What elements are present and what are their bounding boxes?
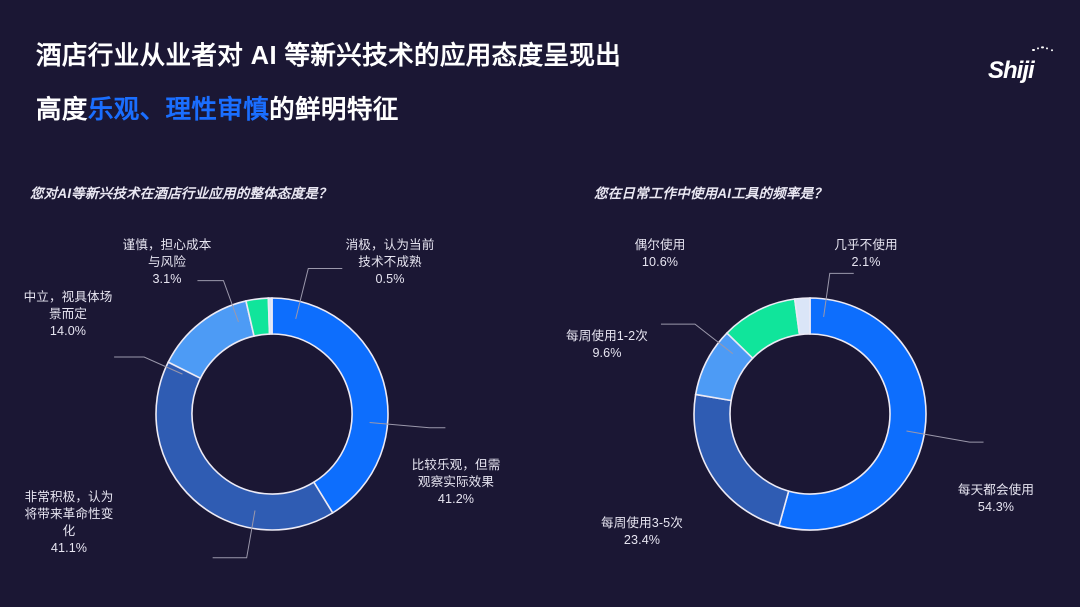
- title-line-2: 高度乐观、理性审慎的鲜明特征: [36, 98, 916, 124]
- callout-frequency-weekly-1-2: 每周使用1-2次 9.6%: [542, 328, 672, 362]
- donut-slice[interactable]: [268, 298, 272, 334]
- callout-frequency-weekly-3-5: 每周使用3-5次 23.4%: [574, 515, 710, 549]
- shiji-logo: Shiji: [988, 48, 1054, 82]
- chart-panel-attitude: 您对AI等新兴技术在酒店行业应用的整体态度是？ 谨慎，担心成本 与风险 3.1%…: [0, 182, 540, 594]
- title-prefix: 高度: [36, 96, 88, 124]
- chart-panel-frequency: 您在日常工作中使用AI工具的频率是？ 偶尔使用 10.6% 几乎不使用 2.1%…: [540, 182, 1080, 594]
- page-title: 酒店行业从业者对 AI 等新兴技术的应用态度呈现出 高度乐观、理性审慎的鲜明特征: [36, 44, 916, 123]
- logo-dots-icon: [1032, 49, 1053, 51]
- slide-root: 酒店行业从业者对 AI 等新兴技术的应用态度呈现出 高度乐观、理性审慎的鲜明特征…: [0, 0, 1080, 607]
- donut-slice[interactable]: [694, 394, 789, 525]
- donut-slice[interactable]: [168, 301, 254, 378]
- callout-attitude-cautious: 谨慎，担心成本 与风险 3.1%: [100, 237, 234, 288]
- donut-attitude-slices: [156, 298, 388, 530]
- callout-attitude-negative: 消极，认为当前 技术不成熟 0.5%: [320, 237, 460, 288]
- title-line-1: 酒店行业从业者对 AI 等新兴技术的应用态度呈现出: [36, 44, 916, 70]
- callout-frequency-occasional: 偶尔使用 10.6%: [600, 237, 720, 271]
- title-accent: 乐观、理性审慎: [88, 96, 269, 124]
- donut-slice[interactable]: [272, 298, 388, 513]
- donut-frequency-slices: [694, 298, 926, 530]
- donut-slice[interactable]: [156, 362, 333, 530]
- callout-frequency-rarely: 几乎不使用 2.1%: [806, 237, 926, 271]
- callout-attitude-very-positive: 非常积极，认为 将带来革命性变 化 41.1%: [0, 489, 144, 557]
- callout-attitude-optimistic: 比较乐观，但需 观察实际效果 41.2%: [386, 457, 526, 508]
- callout-frequency-daily: 每天都会使用 54.3%: [932, 482, 1060, 516]
- title-suffix: 的鲜明特征: [269, 96, 399, 124]
- logo-wordmark: Shiji: [988, 59, 1034, 83]
- callout-attitude-neutral: 中立，视具体场 景而定 14.0%: [0, 289, 138, 340]
